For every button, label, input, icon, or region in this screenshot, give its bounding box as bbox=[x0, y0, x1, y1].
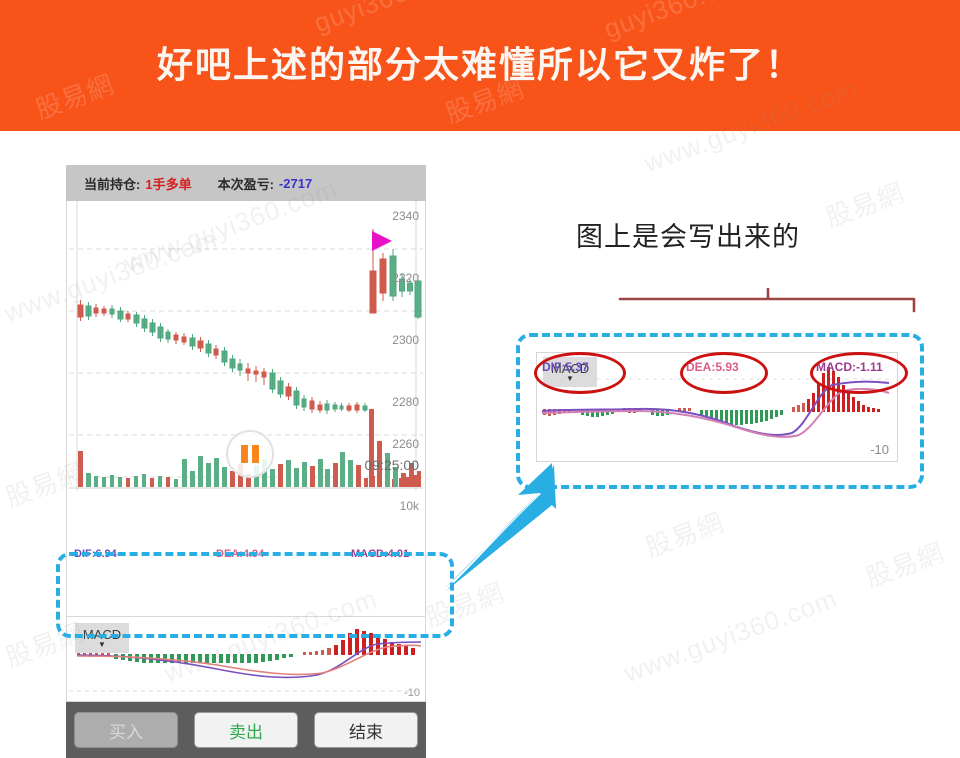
position-value: 1手多单 bbox=[145, 174, 191, 193]
buy-button[interactable]: 买入 bbox=[74, 712, 178, 748]
dea-highlight-ellipse bbox=[680, 352, 768, 394]
position-status-bar: 当前持仓: 1手多单 本次盈亏: -2717 bbox=[66, 165, 426, 201]
price-tick-2340: 2340 bbox=[392, 209, 419, 223]
pause-button[interactable] bbox=[226, 430, 274, 478]
pnl-label: 本次盈亏: bbox=[218, 174, 274, 193]
pnl-value: -2717 bbox=[279, 176, 312, 191]
brace-bracket bbox=[618, 285, 920, 315]
position-label: 当前持仓: bbox=[84, 174, 140, 193]
chevron-down-icon: ▼ bbox=[98, 641, 106, 649]
callout-text: 图上是会写出来的 bbox=[576, 215, 800, 254]
sell-button[interactable]: 卖出 bbox=[194, 712, 298, 748]
price-tick-2300: 2300 bbox=[392, 333, 419, 347]
macd-highlight-ellipse bbox=[810, 352, 908, 394]
price-tick-2320: 2320 bbox=[392, 271, 419, 285]
macd-selection-highlight-app bbox=[56, 552, 454, 638]
price-tick-2260: 2260 bbox=[392, 437, 419, 451]
watermark-brand-4: 股易網 bbox=[640, 502, 729, 564]
magenta-triangle-marker bbox=[372, 231, 394, 251]
close-button[interactable]: 结束 bbox=[314, 712, 418, 748]
page-title: 好吧上述的部分太难懂所以它又炸了！ bbox=[0, 36, 960, 88]
title-banner: 好吧上述的部分太难懂所以它又炸了！ bbox=[0, 0, 960, 131]
macd-scale-label: -10 bbox=[404, 687, 420, 699]
dif-highlight-ellipse bbox=[534, 352, 626, 394]
price-tick-2280: 2280 bbox=[392, 395, 419, 409]
watermark-site-7: www.guyi360.com bbox=[620, 583, 842, 689]
watermark-brand-5: 股易網 bbox=[860, 532, 949, 594]
trade-button-bar: 买入 卖出 结束 bbox=[66, 702, 426, 758]
pause-icon-bar-left bbox=[241, 445, 248, 463]
pause-icon-bar-right bbox=[252, 445, 259, 463]
watermark-brand-8: 股易網 bbox=[820, 172, 909, 234]
slide-canvas: 好吧上述的部分太难懂所以它又炸了！ 当前持仓: 1手多单 本次盈亏: -2717 bbox=[0, 0, 960, 720]
volume-scale-label: 10k bbox=[400, 499, 419, 513]
time-label: 09:25:00 bbox=[365, 457, 420, 473]
